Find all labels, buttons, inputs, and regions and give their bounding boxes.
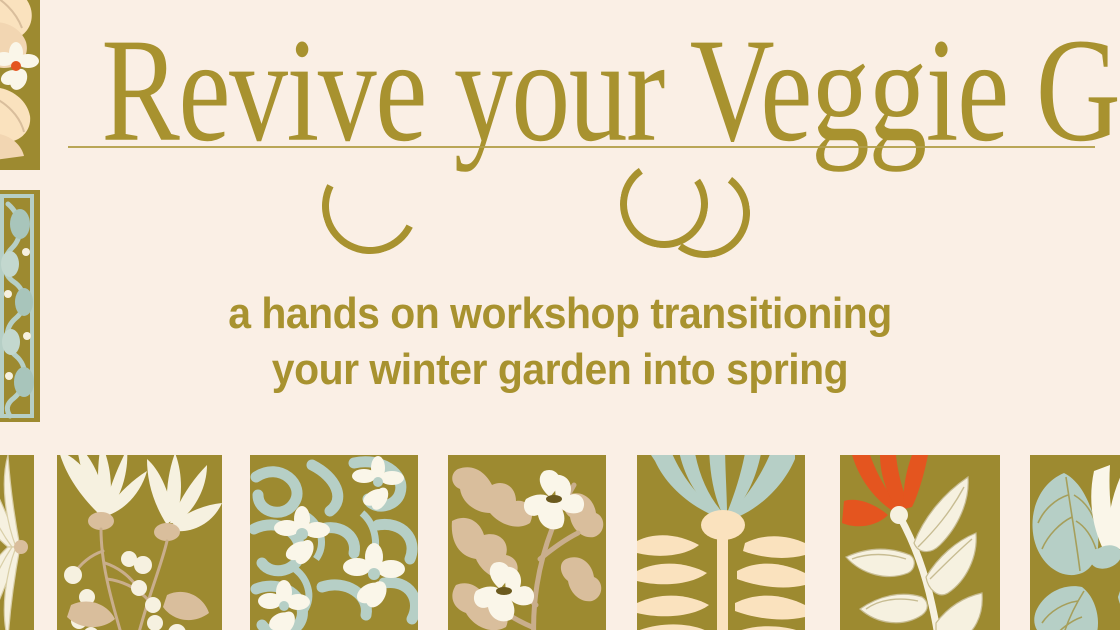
ornament-panel-left-top (0, 0, 40, 170)
peach-petals-with-daisy-icon (0, 0, 40, 170)
ornament-panel-bottom-5 (637, 455, 805, 630)
cream-fan-flowers-and-berries-icon (57, 455, 222, 630)
subtitle-line-2: your winter garden into spring (39, 342, 1081, 398)
subtitle-block: a hands on workshop transitioning your w… (0, 286, 1120, 399)
sage-leaves-with-white-shell-flower-icon (1030, 455, 1120, 630)
subtitle-line-1: a hands on workshop transitioning (39, 286, 1081, 342)
cream-fan-leaves-icon (0, 455, 34, 630)
ornament-panel-bottom-1 (0, 455, 34, 630)
poster-canvas: Revive your Veggie Garden a hands on wor… (0, 0, 1120, 630)
oak-leaves-with-white-blossoms-icon (448, 455, 606, 630)
page-title: Revive your Veggie Garden (90, 18, 1031, 163)
title-underline-rule (68, 146, 1095, 148)
ornament-panel-bottom-3 (250, 455, 418, 630)
sage-waves-with-white-daisies-icon (250, 455, 418, 630)
ornament-panel-bottom-6 (840, 455, 1000, 630)
ornament-panel-bottom-7 (1030, 455, 1120, 630)
title-swash-y-icon (310, 146, 431, 267)
sage-fan-flower-with-peach-waves-icon (637, 455, 805, 630)
orange-fan-with-white-fern-icon (840, 455, 1000, 630)
ornament-panel-bottom-2 (57, 455, 222, 630)
ornament-panel-bottom-4 (448, 455, 606, 630)
title-block: Revive your Veggie Garden (0, 22, 1120, 159)
